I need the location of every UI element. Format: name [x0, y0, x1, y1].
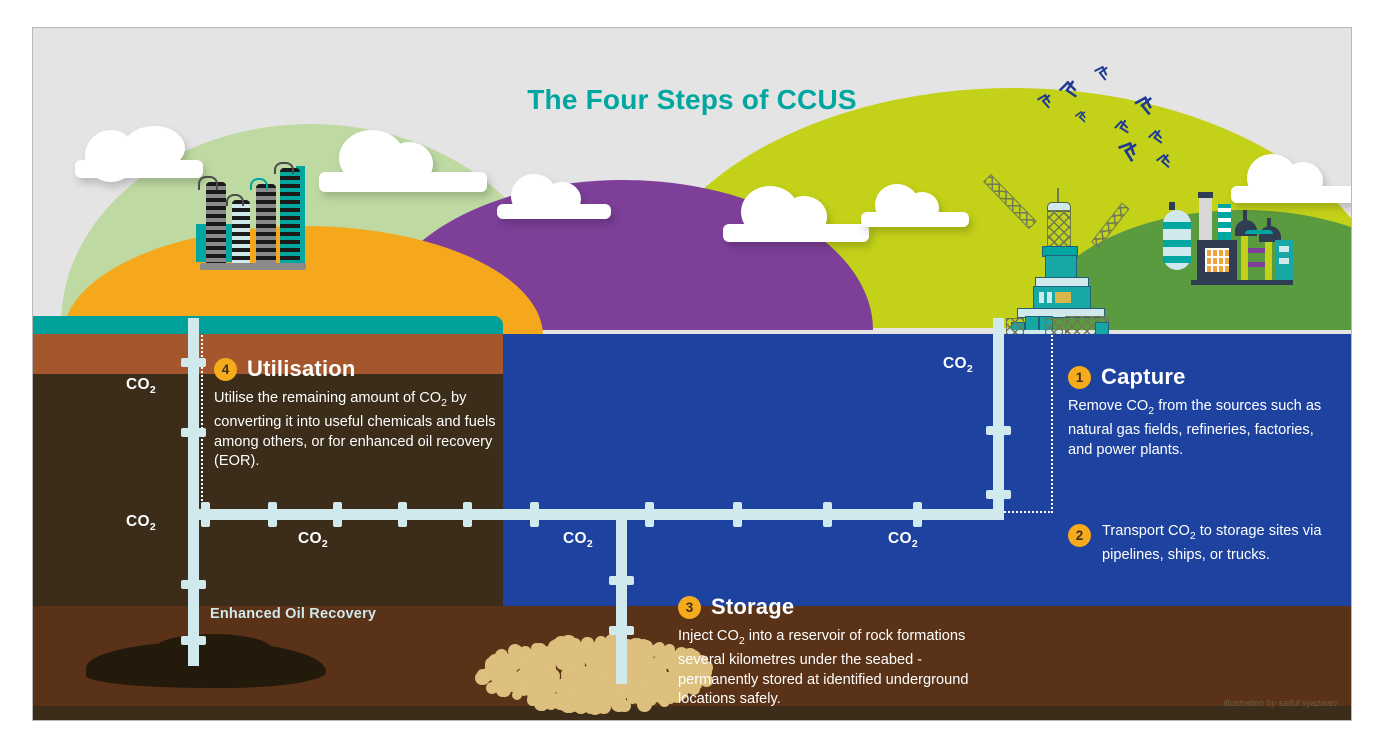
oil-reservoir — [153, 634, 273, 666]
rock-grain — [569, 668, 583, 682]
pipe-joint — [986, 490, 1011, 499]
step-transport[interactable]: 2 Transport CO2 to storage sites via pip… — [1068, 522, 1340, 566]
rock-grain — [545, 665, 555, 675]
factory-illustration — [1161, 196, 1289, 308]
pipe-main-horizontal — [188, 509, 1004, 520]
pipe-joint — [609, 576, 634, 585]
step-storage-body: Inject CO2 into a reservoir of rock form… — [678, 627, 978, 710]
pipe-joint — [463, 502, 472, 527]
enhanced-oil-recovery-label: Enhanced Oil Recovery — [210, 606, 376, 622]
bird-icon — [1116, 121, 1131, 130]
step-number-badge: 1 — [1068, 366, 1091, 389]
step-storage-title: Storage — [711, 594, 794, 620]
co2-label: CO2 — [298, 530, 328, 550]
pipe-joint — [398, 502, 407, 527]
step-utilisation-header: 4 Utilisation — [214, 356, 504, 382]
rock-grain — [593, 645, 604, 656]
co2-label: CO2 — [943, 355, 973, 375]
bird-icon — [1095, 67, 1110, 77]
bird-icon — [1150, 132, 1164, 140]
step-capture-title: Capture — [1101, 364, 1186, 390]
rock-grain — [664, 644, 674, 654]
pipe-riser-vertical — [993, 318, 1004, 518]
refinery-illustration — [196, 154, 311, 272]
step-capture-header: 1 Capture — [1068, 364, 1340, 390]
sea-surface-strip — [33, 316, 503, 334]
bird-icon — [1158, 156, 1172, 163]
rock-grain — [638, 639, 649, 650]
illustration-credit: illustration by saiful syazwan — [1223, 698, 1337, 708]
pipe-joint — [823, 502, 832, 527]
pipe-joint — [645, 502, 654, 527]
pipe-joint — [913, 502, 922, 527]
rock-grain — [556, 641, 567, 652]
cloud-icon — [319, 130, 489, 194]
pipe-injection-vertical — [616, 514, 627, 684]
pipe-joint — [986, 426, 1011, 435]
step-utilisation-body: Utilise the remaining amount of CO2 by c… — [214, 389, 504, 472]
cloud-icon — [861, 184, 971, 228]
pipe-joint — [268, 502, 277, 527]
pipe-joint — [181, 428, 206, 437]
pipe-joint — [609, 626, 634, 635]
step-number-badge: 2 — [1068, 524, 1091, 547]
pipe-joint — [181, 636, 206, 645]
step-capture-body: Remove CO2 from the sources such as natu… — [1068, 397, 1340, 460]
offshore-platform-illustration — [995, 176, 1125, 341]
step-storage-header: 3 Storage — [678, 594, 978, 620]
cloud-icon — [75, 126, 205, 178]
rock-grain — [648, 665, 660, 677]
pipe-joint — [333, 502, 342, 527]
step-utilisation[interactable]: 4 Utilisation Utilise the remaining amou… — [214, 356, 504, 472]
pipe-joint — [181, 358, 206, 367]
rock-grain — [485, 657, 499, 671]
step-capture[interactable]: 1 Capture Remove CO2 from the sources su… — [1068, 364, 1340, 460]
guide-line-vertical-right — [1051, 335, 1053, 513]
rock-grain — [663, 681, 674, 692]
rock-grain — [581, 637, 593, 649]
page-title: The Four Steps of CCUS — [33, 84, 1351, 116]
step-transport-body: Transport CO2 to storage sites via pipel… — [1102, 522, 1340, 566]
rock-formation-reservoir — [481, 640, 711, 708]
rock-grain — [518, 679, 532, 693]
infographic-canvas: The Four Steps of CCUS — [0, 0, 1385, 752]
pipe-eor-vertical — [188, 318, 199, 666]
co2-label: CO2 — [888, 530, 918, 550]
cloud-icon — [723, 186, 871, 244]
pipe-joint — [201, 502, 210, 527]
pipe-joint — [181, 580, 206, 589]
pipe-joint — [530, 502, 539, 527]
step-number-badge: 4 — [214, 358, 237, 381]
step-number-badge: 3 — [678, 596, 701, 619]
step-storage[interactable]: 3 Storage Inject CO2 into a reservoir of… — [678, 594, 978, 710]
co2-label: CO2 — [563, 530, 593, 550]
pipe-joint — [733, 502, 742, 527]
ccus-poster: The Four Steps of CCUS — [33, 28, 1351, 720]
rock-grain — [571, 701, 582, 712]
step-utilisation-title: Utilisation — [247, 356, 356, 382]
cloud-icon — [497, 174, 613, 220]
co2-label: CO2 — [126, 513, 156, 533]
co2-label: CO2 — [126, 376, 156, 396]
